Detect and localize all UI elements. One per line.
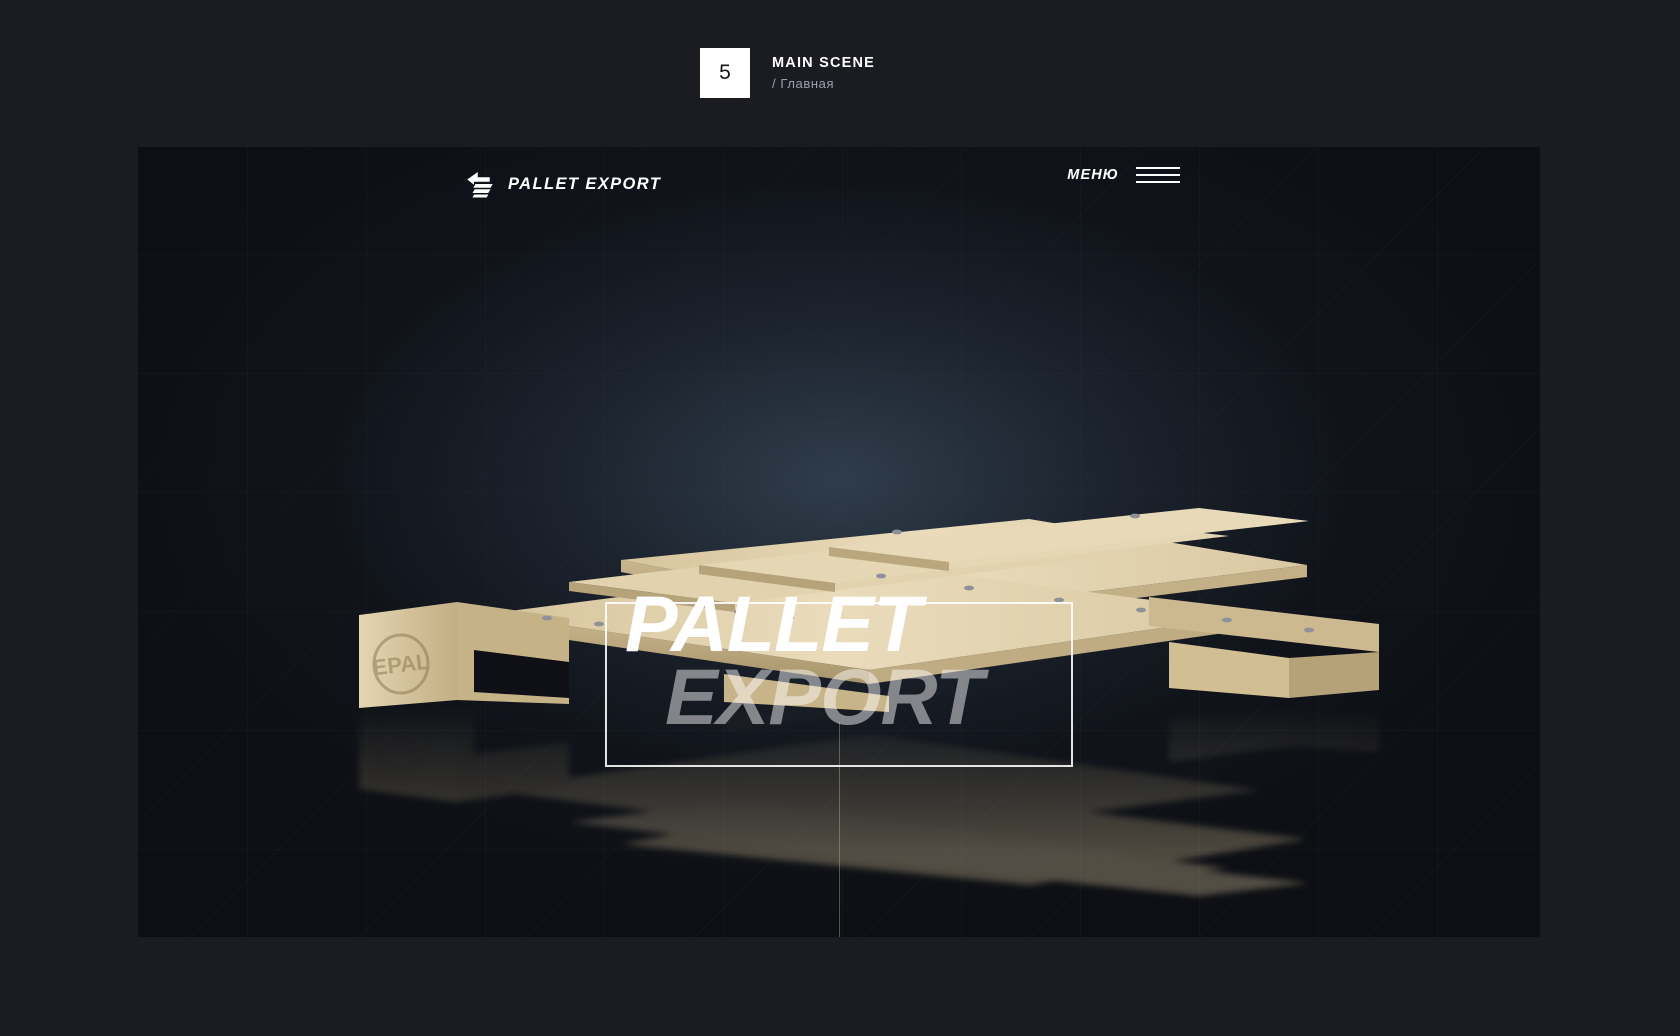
hamburger-icon — [1136, 167, 1180, 183]
website-preview-panel: PALLET EXPORT МЕНЮ — [138, 147, 1540, 937]
slide-header: 5 MAIN SCENE / Главная — [700, 48, 875, 98]
slide-number-badge: 5 — [700, 48, 750, 98]
brand-logo[interactable]: PALLET EXPORT — [465, 169, 661, 199]
right-block — [1169, 642, 1289, 698]
page-subtitle: / Главная — [772, 76, 875, 91]
pallet-arrow-logo-icon — [465, 169, 495, 199]
hero-logotype: PALLET EXPORT — [605, 602, 1073, 767]
slide-title-group: MAIN SCENE / Главная — [772, 48, 875, 91]
menu-label: МЕНЮ — [1067, 167, 1119, 183]
page-title: MAIN SCENE — [772, 54, 875, 72]
brand-name-label: PALLET EXPORT — [508, 175, 661, 194]
logotype-line-export: EXPORT — [605, 659, 1073, 735]
logotype-line-pallet: PALLET — [605, 586, 1073, 662]
site-navbar: PALLET EXPORT МЕНЮ — [138, 147, 1540, 227]
right-edge-board — [1149, 597, 1379, 652]
menu-button[interactable]: МЕНЮ — [1067, 167, 1180, 183]
